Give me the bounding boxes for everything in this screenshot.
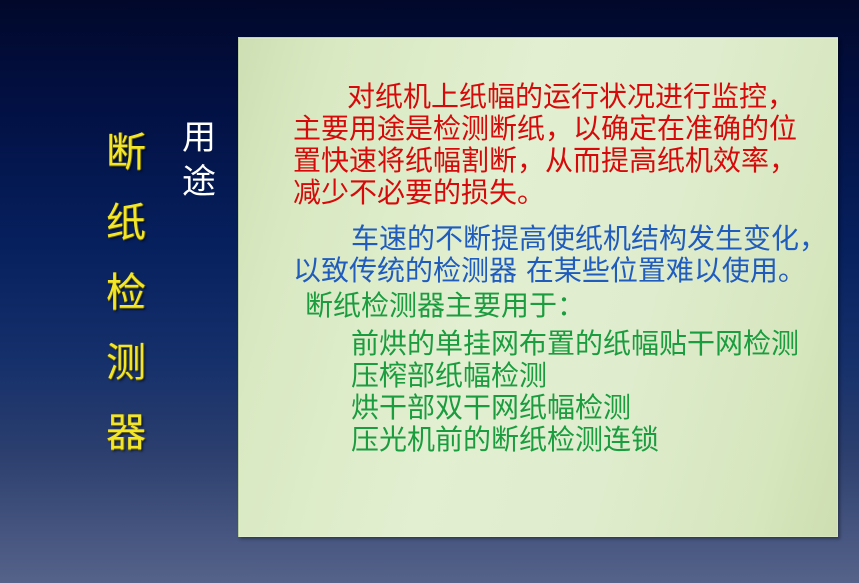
list-heading: 断纸检测器主要用于： xyxy=(239,290,585,322)
paragraph-red-line-3: 置快速将纸幅割断，从而提高纸机效率， xyxy=(239,145,839,177)
list-item-3: 烘干部双干网纸幅检测 xyxy=(239,392,839,424)
list-item-4: 压光机前的断纸检测连锁 xyxy=(239,424,839,456)
content-panel: 对纸机上纸幅的运行状况进行监控， 主要用途是检测断纸，以确定在准确的位 置快速将… xyxy=(238,37,838,537)
slide-vertical-title: 断 纸 检 测 器 xyxy=(98,118,154,468)
list-item-2: 压榨部纸幅检测 xyxy=(239,360,839,392)
subtitle-char-1: 用 xyxy=(182,116,216,160)
title-char-1: 断 xyxy=(106,118,146,188)
title-char-5: 器 xyxy=(106,398,146,468)
subtitle-char-2: 途 xyxy=(182,160,216,204)
paragraph-red-line-4: 减少不必要的损失。 xyxy=(239,177,839,209)
list-item-1: 前烘的单挂网布置的纸幅贴干网检测 xyxy=(239,328,839,360)
paragraph-blue-line-2: 以致传统的检测器 在某些位置难以使用。 xyxy=(239,255,839,287)
detector-usage-list: 前烘的单挂网布置的纸幅贴干网检测 压榨部纸幅检测 烘干部双干网纸幅检测 压光机前… xyxy=(239,328,839,456)
paragraph-blue-line-1: 车速的不断提高使纸机结构发生变化， xyxy=(239,223,839,255)
presentation-slide: 断 纸 检 测 器 用 途 对纸机上纸幅的运行状况进行监控， 主要用途是检测断纸… xyxy=(0,0,859,583)
slide-subtitle: 用 途 xyxy=(176,116,222,204)
paragraph-red-line-2: 主要用途是检测断纸，以确定在准确的位 xyxy=(239,113,839,145)
title-char-3: 检 xyxy=(106,258,146,328)
paragraph-red-line-1: 对纸机上纸幅的运行状况进行监控， xyxy=(239,81,839,113)
paragraph-blue: 车速的不断提高使纸机结构发生变化， 以致传统的检测器 在某些位置难以使用。 xyxy=(239,223,839,287)
paragraph-red: 对纸机上纸幅的运行状况进行监控， 主要用途是检测断纸，以确定在准确的位 置快速将… xyxy=(239,81,839,209)
title-char-2: 纸 xyxy=(106,188,146,258)
title-char-4: 测 xyxy=(106,328,146,398)
